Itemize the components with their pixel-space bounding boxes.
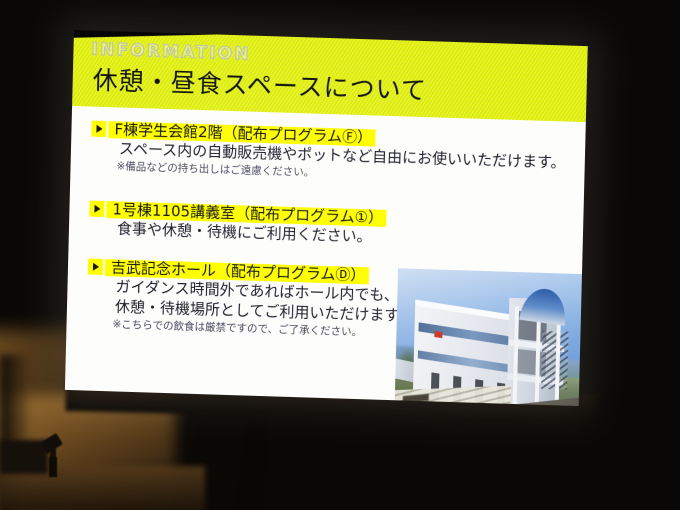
- triangle-bullet-icon: [91, 121, 106, 137]
- photo-red-sign: [434, 331, 442, 338]
- spotlight-stand: [49, 457, 57, 477]
- stage-curtain-edge: [0, 355, 28, 510]
- slide-canvas: INFORMATION 休憩・昼食スペースについて F棟学生会館2階（配布プログ…: [65, 30, 588, 406]
- stage-spotlight-icon: [42, 437, 64, 477]
- info-block-3: 吉武記念ホール（配布プログラムⒹ） ガイダンス時間外であればホール内でも、 休憩…: [86, 259, 414, 342]
- triangle-bullet-icon: [88, 259, 103, 275]
- auditorium-scene: INFORMATION 休憩・昼食スペースについて F棟学生会館2階（配布プログ…: [0, 0, 680, 510]
- spotlight-neck: [50, 448, 56, 460]
- projected-slide: INFORMATION 休憩・昼食スペースについて F棟学生会館2階（配布プログ…: [65, 30, 588, 406]
- stage-equipment-box: [0, 440, 48, 474]
- slide-body: F棟学生会館2階（配布プログラムⒻ） スペース内の自動販売機やポットなど自由にお…: [65, 106, 586, 406]
- campus-building-photo: [394, 268, 582, 406]
- stage-front-edge: [0, 466, 205, 510]
- spotlight-head: [40, 433, 63, 454]
- info-block-2: 1号棟1105講義室（配布プログラム①） 食事や休憩・待機にご利用ください。: [89, 201, 387, 247]
- triangle-bullet-icon: [89, 201, 104, 217]
- photo-bench: [403, 394, 429, 403]
- info-block-1: F棟学生会館2階（配布プログラムⒻ） スペース内の自動販売機やポットなど自由にお…: [90, 121, 566, 189]
